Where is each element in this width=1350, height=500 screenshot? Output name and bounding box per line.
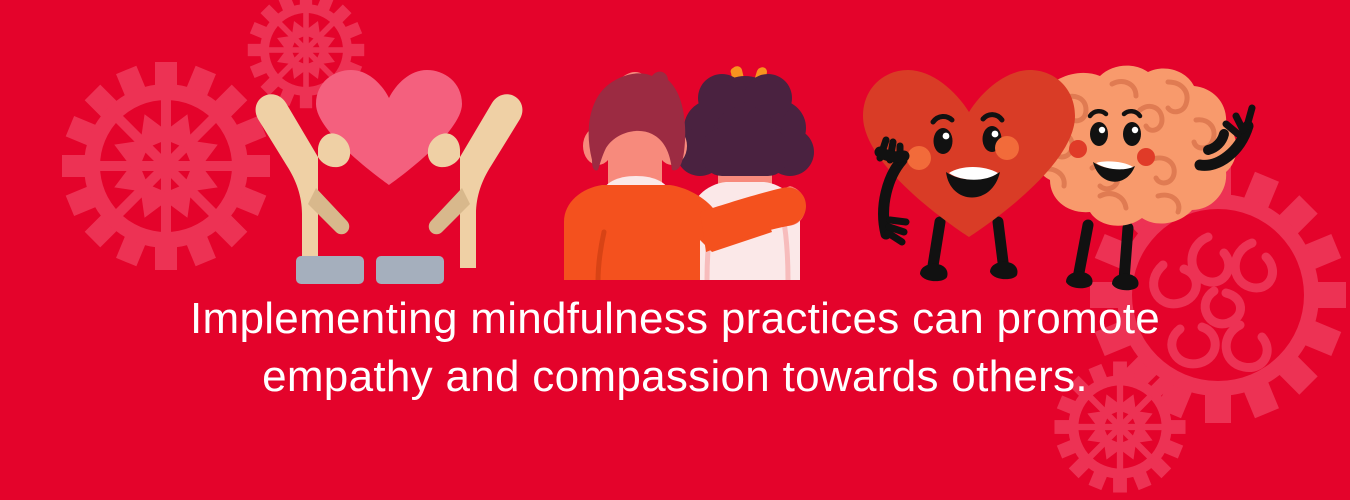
- illustration-layer: [0, 0, 1350, 500]
- heart-blush-right: [995, 136, 1019, 160]
- left-cuff-shape: [296, 256, 364, 284]
- couple-embracing-illustration: [560, 66, 814, 286]
- brain-blush-left: [1069, 140, 1087, 158]
- hands-holding-heart-illustration: [256, 70, 523, 284]
- curly-hair-shape: [676, 74, 814, 176]
- caption-container: Implementing mindfulness practices can p…: [0, 290, 1350, 406]
- pink-heart-shape: [316, 70, 462, 185]
- right-cuff-shape: [376, 256, 444, 284]
- brain-legs-shape: [1078, 225, 1128, 280]
- brain-blush-right: [1137, 148, 1155, 166]
- heart-waving-arm-shape: [880, 140, 906, 242]
- heart-and-brain-characters-illustration: [863, 66, 1252, 291]
- heart-character: [863, 70, 1075, 281]
- mindfulness-banner: Implementing mindfulness practices can p…: [0, 0, 1350, 500]
- caption-text: Implementing mindfulness practices can p…: [145, 290, 1205, 406]
- heart-blush-left: [907, 146, 931, 170]
